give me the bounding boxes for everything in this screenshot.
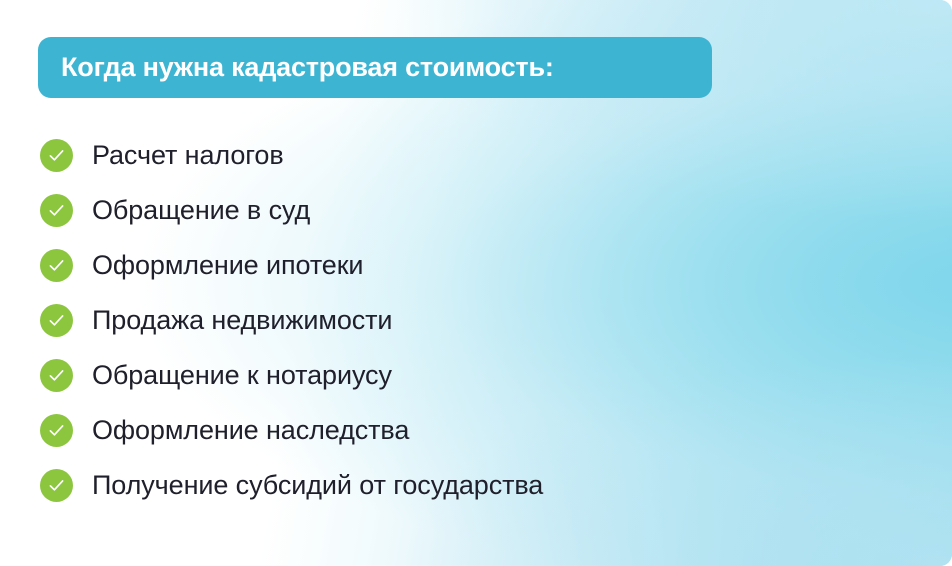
header-banner: Когда нужна кадастровая стоимость:	[38, 37, 712, 98]
list-item-label: Получение субсидий от государства	[92, 472, 543, 499]
list-item-label: Оформление ипотеки	[92, 252, 363, 279]
page-title: Когда нужна кадастровая стоимость:	[61, 54, 554, 81]
list-item: Обращение в суд	[40, 194, 952, 227]
list-item: Получение субсидий от государства	[40, 469, 952, 502]
check-circle-icon	[40, 414, 73, 447]
info-card: Когда нужна кадастровая стоимость: Расче…	[0, 0, 952, 566]
check-circle-icon	[40, 194, 73, 227]
list-item-label: Продажа недвижимости	[92, 307, 392, 334]
list-item-label: Оформление наследства	[92, 417, 409, 444]
check-circle-icon	[40, 359, 73, 392]
list-item: Обращение к нотариусу	[40, 359, 952, 392]
list-item: Расчет налогов	[40, 139, 952, 172]
list-item: Продажа недвижимости	[40, 304, 952, 337]
checklist: Расчет налогов Обращение в суд Оформлени…	[40, 139, 952, 502]
check-circle-icon	[40, 139, 73, 172]
list-item-label: Обращение к нотариусу	[92, 362, 392, 389]
check-circle-icon	[40, 304, 73, 337]
card-content: Когда нужна кадастровая стоимость: Расче…	[0, 0, 952, 566]
check-circle-icon	[40, 469, 73, 502]
check-circle-icon	[40, 249, 73, 282]
list-item-label: Обращение в суд	[92, 197, 310, 224]
list-item-label: Расчет налогов	[92, 142, 284, 169]
list-item: Оформление наследства	[40, 414, 952, 447]
list-item: Оформление ипотеки	[40, 249, 952, 282]
